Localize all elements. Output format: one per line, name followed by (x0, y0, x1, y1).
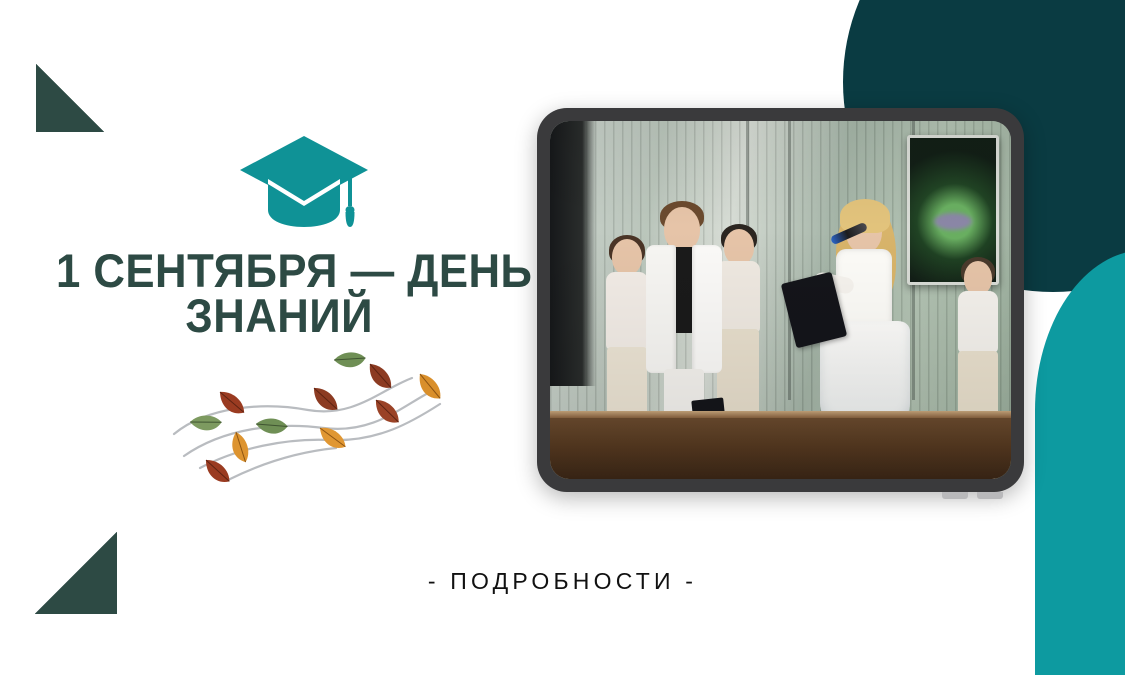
page-title: 1 СЕНТЯБРЯ — ДЕНЬ ЗНАНИЙ (56, 248, 502, 338)
title-line-1: 1 СЕНТЯБРЯ — ДЕНЬ (56, 248, 502, 293)
tablet-foot (977, 492, 1003, 499)
stage-dark-edge (550, 121, 596, 386)
poster-canvas: 1 СЕНТЯБРЯ — ДЕНЬ ЗНАНИЙ (0, 0, 1125, 675)
details-caption[interactable]: - ПОДРОБНОСТИ - (0, 568, 1125, 595)
stage-floor-edge (550, 411, 1011, 418)
decorative-panel-bottom-right (1035, 250, 1125, 675)
tablet-device (537, 108, 1024, 492)
title-line-2: ЗНАНИЙ (56, 293, 502, 338)
stage-photo (550, 121, 1011, 479)
graduation-cap-icon (238, 130, 370, 230)
decorative-triangle-top-left (36, 64, 104, 132)
tablet-foot (942, 492, 968, 499)
tablet-screen-photo (550, 121, 1011, 479)
wall-seam (788, 121, 791, 400)
autumn-leaves-swirl-icon (168, 352, 478, 488)
stage-floor (550, 418, 1011, 479)
